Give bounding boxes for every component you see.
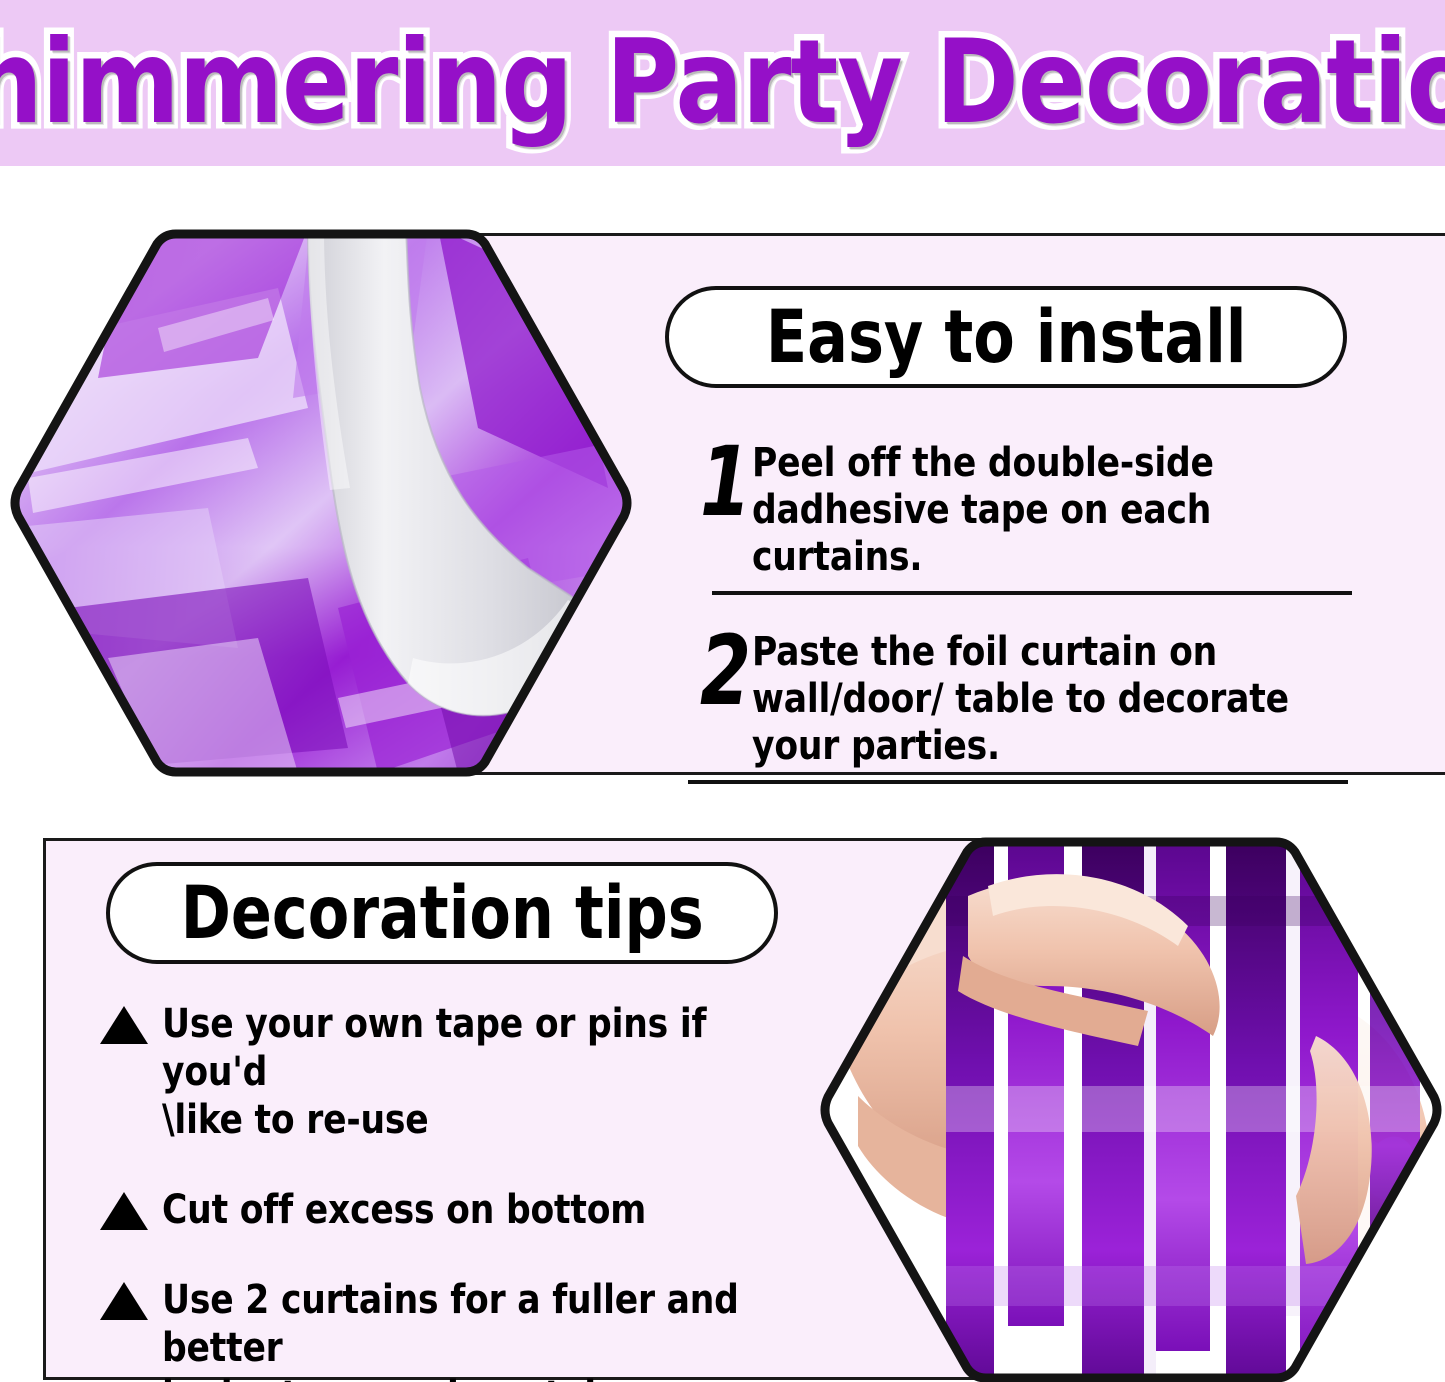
tip-text: Cut off excess on bottom bbox=[162, 1186, 755, 1234]
install-step: 2 Paste the foil curtain on wall/door/ t… bbox=[700, 629, 1360, 778]
tips-heading-text: Decoration tips bbox=[180, 877, 703, 950]
step-number: 1 bbox=[700, 436, 744, 528]
install-heading-pill: Easy to install bbox=[665, 286, 1347, 388]
step-divider bbox=[688, 780, 1348, 784]
install-hex-image bbox=[8, 228, 633, 778]
tips-heading-pill: Decoration tips bbox=[106, 862, 778, 964]
triangle-up-icon bbox=[100, 1006, 148, 1044]
install-steps-list: 1 Peel off the double-side dadhesive tap… bbox=[700, 440, 1360, 784]
step-divider bbox=[712, 591, 1352, 595]
tips-list: Use your own tape or pins if you'd \like… bbox=[100, 1000, 780, 1382]
triangle-up-icon bbox=[100, 1192, 148, 1230]
step-number: 2 bbox=[700, 625, 744, 717]
header-band: Shimmering Party Decoration bbox=[0, 0, 1445, 166]
tip-item: Use your own tape or pins if you'd \like… bbox=[100, 1000, 780, 1144]
install-heading-text: Easy to install bbox=[766, 301, 1247, 374]
tips-hex-image bbox=[818, 836, 1443, 1382]
tip-item: Use 2 curtains for a fuller and better l… bbox=[100, 1276, 780, 1382]
tip-text: Use your own tape or pins if you'd \like… bbox=[162, 1000, 755, 1144]
page-title: Shimmering Party Decoration bbox=[29, 0, 1416, 166]
tip-item: Cut off excess on bottom bbox=[100, 1186, 780, 1234]
install-step: 1 Peel off the double-side dadhesive tap… bbox=[700, 440, 1360, 589]
step-text: Paste the foil curtain on wall/door/ tab… bbox=[752, 629, 1336, 770]
triangle-up-icon bbox=[100, 1282, 148, 1320]
tip-text: Use 2 curtains for a fuller and better l… bbox=[162, 1276, 755, 1382]
step-text: Peel off the double-side dadhesive tape … bbox=[752, 440, 1336, 581]
infographic-page: Shimmering Party Decoration bbox=[0, 0, 1445, 1382]
